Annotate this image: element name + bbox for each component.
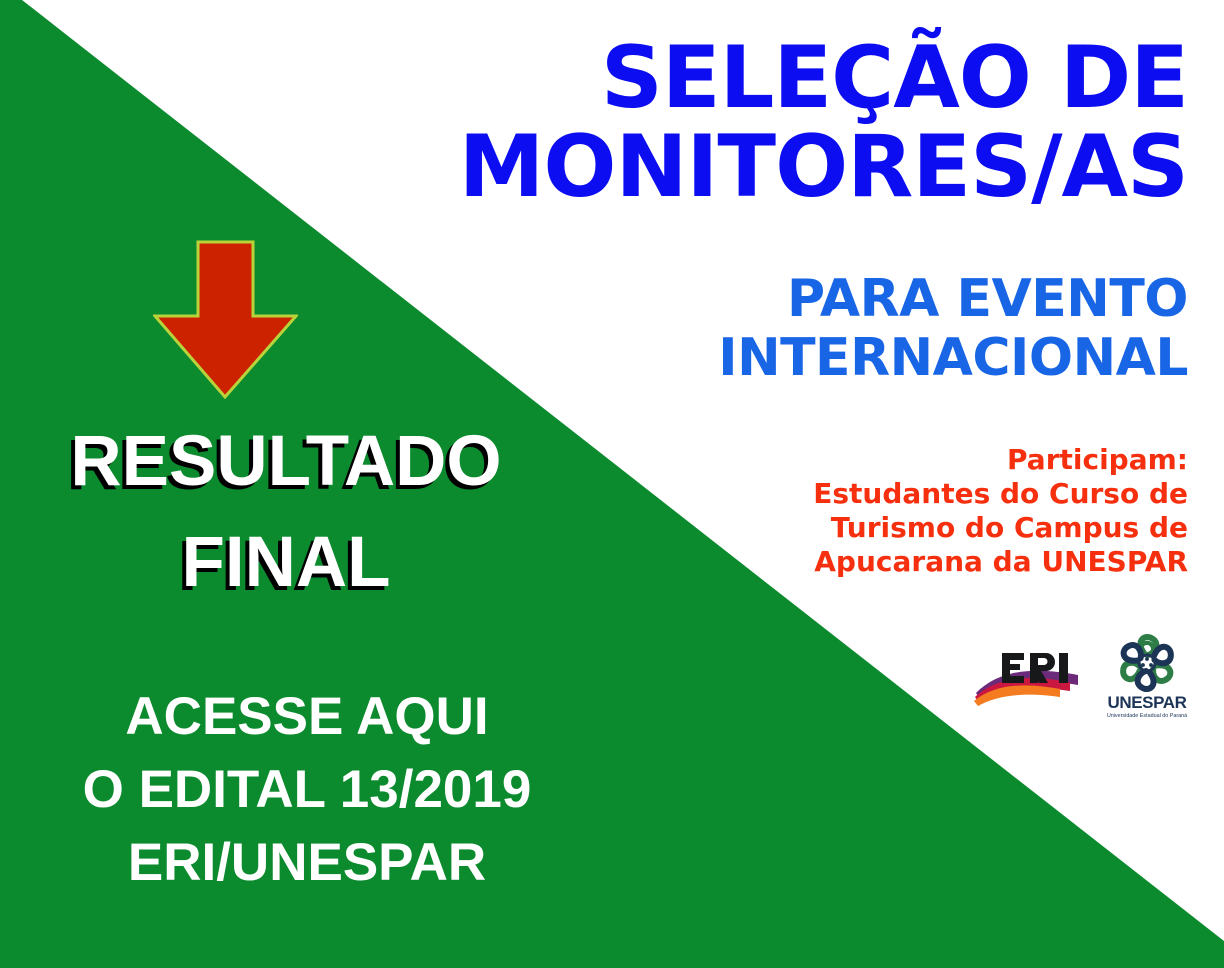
access-edital-text[interactable]: ACESSE AQUI O EDITAL 13/2019 ERI/UNESPAR	[0, 680, 614, 899]
poster-canvas: SELEÇÃO DE MONITORES/AS PARA EVENTO INTE…	[0, 0, 1224, 968]
participants-line-4: Apucarana da UNESPAR	[630, 545, 1188, 579]
participants-line-1: Participam:	[630, 443, 1188, 477]
subhead-line-1: PARA EVENTO	[787, 269, 1188, 329]
subhead-line-2: INTERNACIONAL	[430, 329, 1188, 388]
participants-block: Participam: Estudantes do Curso de Turis…	[630, 443, 1188, 580]
headline-line-2: MONITORES/AS	[330, 123, 1188, 212]
page-subtitle: PARA EVENTO INTERNACIONAL	[430, 270, 1188, 388]
result-line-2: FINAL	[26, 513, 546, 614]
result-final-text: RESULTADO FINAL	[26, 412, 546, 614]
participants-line-2: Estudantes do Curso de	[630, 477, 1188, 511]
unespar-wordmark: UNESPAR	[1107, 693, 1186, 712]
unespar-tagline: Universidade Estadual do Paraná	[1107, 713, 1187, 719]
access-line-1: ACESSE AQUI	[0, 680, 614, 753]
page-title: SELEÇÃO DE MONITORES/AS	[330, 34, 1188, 211]
unespar-logo: UNESPAR Universidade Estadual do Paraná	[1106, 631, 1188, 721]
participants-line-3: Turismo do Campus de	[630, 511, 1188, 545]
result-line-1: RESULTADO	[26, 412, 546, 513]
access-line-3: ERI/UNESPAR	[0, 826, 614, 899]
headline-line-1: SELEÇÃO DE	[601, 28, 1188, 128]
arrow-down-icon	[153, 240, 298, 400]
eri-logo	[974, 645, 1084, 707]
logo-row: UNESPAR Universidade Estadual do Paraná	[960, 622, 1188, 730]
access-line-2: O EDITAL 13/2019	[0, 753, 614, 826]
